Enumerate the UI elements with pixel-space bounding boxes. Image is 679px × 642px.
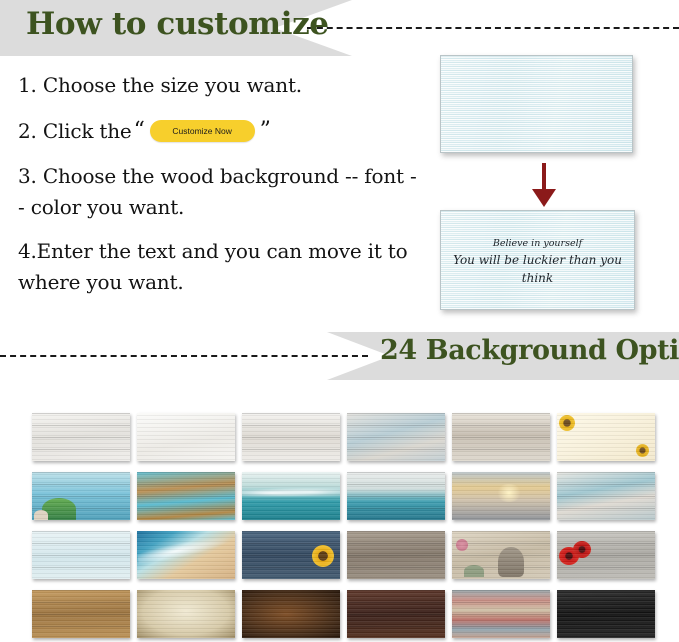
background-thumbnail-grid (32, 413, 652, 638)
thumbnail-cream-sunflower-corner[interactable] (557, 413, 655, 461)
thumbnail-teal-foam-wave[interactable] (242, 472, 340, 520)
customize-now-button[interactable]: Customize Now (150, 120, 255, 142)
step-4: 4.Enter the text and you can move it to … (18, 236, 418, 298)
sun-glow (496, 484, 522, 502)
quote-close-mark: ” (258, 114, 273, 148)
buddha-statue-icon (498, 547, 524, 577)
thumbnail-navy-wood-sunflower[interactable] (242, 531, 340, 579)
plank-line-overlay (452, 590, 550, 638)
down-arrow-icon (531, 163, 557, 207)
thumbnail-underwater-coral-reef[interactable] (32, 472, 130, 520)
thumbnail-blue-white-rustic-planks[interactable] (557, 472, 655, 520)
plank-line-overlay (242, 413, 340, 461)
thumbnail-deep-mahogany-planks[interactable] (347, 590, 445, 638)
steps-list: 1. Choose the size you want. 2. Click th… (18, 70, 418, 311)
thumbnail-blue-grey-mixed-planks[interactable] (347, 413, 445, 461)
thumbnail-beige-weathered-wood[interactable] (452, 413, 550, 461)
plank-line-overlay (347, 472, 445, 520)
sunflower-icon (559, 415, 575, 431)
thumbnail-golden-sunset-seascape[interactable] (452, 472, 550, 520)
sunflower-icon (312, 545, 334, 567)
thumbnail-whitewashed-plank-wood[interactable] (32, 413, 130, 461)
plank-line-overlay (137, 472, 235, 520)
thumbnail-pale-blue-smooth-wood[interactable] (32, 531, 130, 579)
thumbnail-multicolor-pastel-planks[interactable] (452, 590, 550, 638)
plank-line-overlay (452, 413, 550, 461)
lotus-icon (464, 565, 484, 577)
thumbnail-light-oak-planks[interactable] (32, 590, 130, 638)
thumbnail-black-charcoal-wood[interactable] (557, 590, 655, 638)
plank-line-overlay (32, 531, 130, 579)
plank-line-overlay (557, 590, 655, 638)
plank-line-overlay (32, 590, 130, 638)
quote-open-mark: “ (132, 114, 147, 148)
sunflower-icon (636, 444, 649, 457)
thumbnail-ocean-beach-shoreline[interactable] (137, 531, 235, 579)
poppy-icon (573, 541, 591, 558)
quoted-wood-panel-preview: Believe in yourself You will be luckier … (440, 210, 635, 310)
plank-line-overlay (557, 531, 655, 579)
plank-line-overlay (557, 472, 655, 520)
thumbnail-distressed-white-wood[interactable] (242, 413, 340, 461)
thumbnail-dark-brown-grunge[interactable] (242, 590, 340, 638)
plank-line-overlay (347, 413, 445, 461)
poppy-icon (559, 547, 579, 565)
step-2-prefix: 2. Click the (18, 116, 132, 147)
thumbnail-vintage-parchment[interactable] (137, 590, 235, 638)
blank-wood-panel-preview (440, 55, 633, 153)
top-dashed-line (307, 27, 679, 29)
surf-foam (137, 531, 235, 567)
thumbnail-grey-wood-red-poppies[interactable] (557, 531, 655, 579)
coral-icon (42, 498, 76, 520)
shell-icon (34, 510, 48, 520)
plank-line-overlay (452, 531, 550, 579)
step-2: 2. Click the “ Customize Now ” (18, 114, 418, 148)
options-dashed-line (0, 355, 368, 357)
plank-line-overlay (347, 531, 445, 579)
thumbnail-plain-white-wood[interactable] (137, 413, 235, 461)
quote-line-1: Believe in yourself (441, 237, 634, 251)
thumbnail-grey-brown-barnwood[interactable] (347, 531, 445, 579)
flower-icon (456, 539, 468, 551)
plank-line-overlay (32, 472, 130, 520)
options-banner-title: 24 Background Options (380, 335, 679, 366)
thumbnail-turquoise-peeling-paint[interactable] (137, 472, 235, 520)
plank-line-overlay (242, 531, 340, 579)
sea-foam (242, 488, 340, 498)
plank-line-overlay (32, 413, 130, 461)
thumbnail-buddha-zen-wood[interactable] (452, 531, 550, 579)
panel-quote-text: Believe in yourself You will be luckier … (441, 237, 634, 287)
thumbnail-teal-gradient-plank[interactable] (347, 472, 445, 520)
plank-line-overlay (347, 590, 445, 638)
step-1: 1. Choose the size you want. (18, 70, 418, 101)
quote-line-2: You will be luckier than you think (441, 251, 634, 287)
step-3: 3. Choose the wood background -- font --… (18, 161, 418, 223)
page-title: How to customize (26, 6, 329, 42)
